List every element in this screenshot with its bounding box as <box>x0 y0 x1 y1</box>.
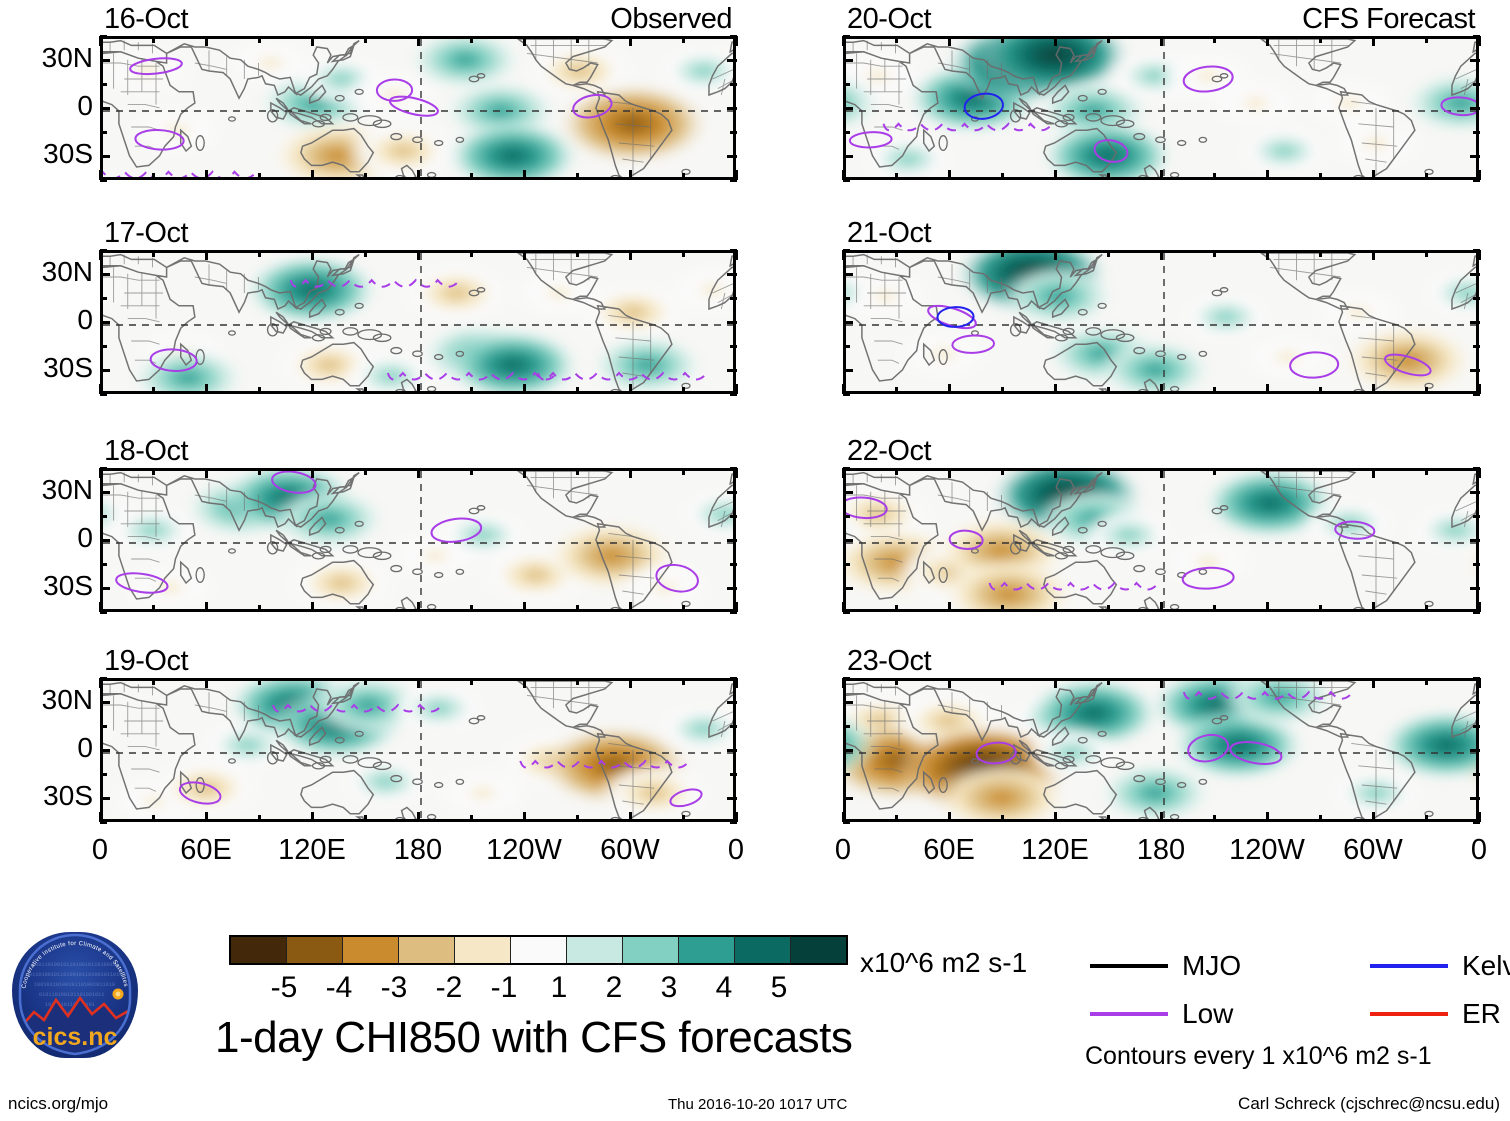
x-tick <box>629 678 632 688</box>
x-tick-minor <box>1107 678 1110 685</box>
x-tick <box>1054 468 1057 478</box>
island-outline <box>229 549 236 553</box>
x-tick <box>1160 36 1163 46</box>
x-tick-minor <box>895 815 898 822</box>
y-tick-minor <box>843 563 850 566</box>
x-tick <box>205 468 208 478</box>
x-tick <box>735 812 738 822</box>
y-axis-label: 0 <box>5 304 93 336</box>
x-tick-minor <box>682 173 685 180</box>
legend-swatch-mjo <box>1090 964 1168 968</box>
legend-swatch-er <box>1370 1012 1448 1016</box>
y-tick <box>843 587 853 590</box>
x-tick-minor <box>576 387 579 394</box>
y-tick <box>1470 797 1480 800</box>
y-tick-minor <box>100 83 107 86</box>
x-tick-minor <box>895 605 898 612</box>
x-tick <box>99 468 102 478</box>
map-panel-20-oct <box>843 36 1479 180</box>
x-axis-label: 120W <box>474 834 574 867</box>
x-tick <box>417 602 420 612</box>
island-outline <box>1354 175 1363 180</box>
island-outline <box>229 331 236 335</box>
footer-site-link[interactable]: ncics.org/mjo <box>8 1094 108 1114</box>
y-tick-minor <box>730 297 737 300</box>
x-tick-minor <box>152 387 155 394</box>
x-tick <box>948 468 951 478</box>
x-tick <box>1478 170 1481 180</box>
x-tick <box>735 602 738 612</box>
x-tick-minor <box>895 678 898 685</box>
x-tick <box>205 36 208 46</box>
y-tick-minor <box>843 725 850 728</box>
x-tick-minor <box>682 468 685 475</box>
x-tick <box>523 384 526 394</box>
y-tick <box>843 273 853 276</box>
x-tick <box>311 36 314 46</box>
island-outline <box>373 334 390 341</box>
y-tick <box>727 321 737 324</box>
y-tick-minor <box>1473 773 1480 776</box>
colorbar-cell <box>399 937 455 963</box>
x-tick-minor <box>364 387 367 394</box>
x-tick-minor <box>364 250 367 257</box>
x-tick <box>99 812 102 822</box>
x-axis-label: 180 <box>368 834 468 867</box>
x-tick <box>1266 812 1269 822</box>
svg-text:1001101001011010010110100101: 1001101001011010010110100101 <box>32 962 119 968</box>
panel-date-label: 19-Oct <box>104 645 188 678</box>
x-tick <box>417 250 420 260</box>
x-tick <box>205 250 208 260</box>
y-tick-minor <box>100 563 107 566</box>
anomaly-blob <box>733 44 736 99</box>
x-tick-minor <box>364 605 367 612</box>
map-panel-22-oct <box>843 468 1479 612</box>
y-tick <box>1470 321 1480 324</box>
y-axis-label: 30N <box>5 474 93 506</box>
y-tick <box>1470 587 1480 590</box>
x-tick-minor <box>1319 36 1322 43</box>
island-outline <box>611 817 620 822</box>
legend-label-mjo: MJO <box>1182 950 1241 982</box>
contour-low <box>103 172 257 179</box>
y-tick-minor <box>730 131 737 134</box>
x-tick <box>1266 468 1269 478</box>
x-tick-minor <box>470 605 473 612</box>
colorbar <box>229 935 848 965</box>
y-tick-minor <box>843 515 850 518</box>
x-tick <box>629 36 632 46</box>
x-tick <box>523 36 526 46</box>
y-tick-minor <box>1473 345 1480 348</box>
x-tick <box>99 602 102 612</box>
x-tick-minor <box>1001 468 1004 475</box>
x-tick <box>1266 170 1269 180</box>
y-tick <box>727 797 737 800</box>
x-axis-label: 0 <box>1429 834 1510 867</box>
panel-date-label: 23-Oct <box>847 645 931 678</box>
island-outline <box>343 328 358 335</box>
x-tick-minor <box>682 36 685 43</box>
x-tick-minor <box>1319 815 1322 822</box>
y-tick <box>727 749 737 752</box>
y-tick <box>727 59 737 62</box>
y-tick <box>727 369 737 372</box>
x-axis-label: 0 <box>50 834 150 867</box>
colorbar-cell <box>623 937 679 963</box>
x-tick-minor <box>1001 36 1004 43</box>
y-tick <box>843 701 853 704</box>
column-heading-observed: Observed <box>610 3 732 36</box>
x-tick-minor <box>895 250 898 257</box>
x-tick-minor <box>576 250 579 257</box>
x-tick <box>1266 602 1269 612</box>
y-tick <box>843 491 853 494</box>
x-tick <box>842 170 845 180</box>
x-tick-minor <box>152 678 155 685</box>
x-tick <box>1266 250 1269 260</box>
x-tick-minor <box>895 468 898 475</box>
y-tick <box>100 155 110 158</box>
x-tick-minor <box>470 250 473 257</box>
x-tick-minor <box>258 678 261 685</box>
y-axis-label: 0 <box>5 522 93 554</box>
map-panel-19-oct <box>100 678 736 822</box>
y-tick-minor <box>730 563 737 566</box>
anomaly-blob <box>396 260 516 325</box>
x-tick-minor <box>364 678 367 685</box>
x-tick <box>842 384 845 394</box>
island-outline <box>1354 607 1363 612</box>
island-outline <box>428 815 436 820</box>
x-tick-minor <box>682 815 685 822</box>
y-axis-label: 30N <box>5 256 93 288</box>
x-tick <box>1478 468 1481 478</box>
y-tick <box>727 587 737 590</box>
x-tick-minor <box>1319 387 1322 394</box>
x-tick-minor <box>1107 387 1110 394</box>
y-tick <box>100 107 110 110</box>
island-outline <box>428 605 436 610</box>
x-tick <box>1266 36 1269 46</box>
x-tick <box>1160 170 1163 180</box>
x-tick-minor <box>1319 468 1322 475</box>
y-tick-minor <box>100 725 107 728</box>
x-tick <box>1160 602 1163 612</box>
x-tick <box>1478 812 1481 822</box>
map-panel-18-oct <box>100 468 736 612</box>
x-tick <box>842 468 845 478</box>
y-tick <box>100 749 110 752</box>
x-tick <box>1266 384 1269 394</box>
x-tick-minor <box>258 173 261 180</box>
x-tick <box>1054 36 1057 46</box>
contour-interval-note: Contours every 1 x10^6 m2 s-1 <box>1085 1042 1432 1071</box>
x-tick <box>1372 384 1375 394</box>
x-tick <box>311 678 314 688</box>
y-tick <box>100 797 110 800</box>
x-tick-minor <box>1213 815 1216 822</box>
column-heading-cfs-forecast: CFS Forecast <box>1302 3 1475 36</box>
x-tick-minor <box>258 387 261 394</box>
x-tick <box>311 384 314 394</box>
x-tick <box>523 812 526 822</box>
x-axis-label: 180 <box>1111 834 1211 867</box>
x-tick <box>1372 36 1375 46</box>
x-tick-minor <box>1425 815 1428 822</box>
x-tick-minor <box>470 36 473 43</box>
footer-timestamp: Thu 2016-10-20 1017 UTC <box>668 1096 847 1113</box>
panel-date-label: 22-Oct <box>847 435 931 468</box>
map-panel-17-oct <box>100 250 736 394</box>
x-tick-minor <box>152 468 155 475</box>
x-tick-minor <box>258 605 261 612</box>
y-tick-minor <box>730 515 737 518</box>
y-tick <box>100 587 110 590</box>
x-tick <box>1160 678 1163 688</box>
x-tick-minor <box>152 605 155 612</box>
island-outline <box>395 817 404 822</box>
island-outline <box>1199 137 1206 142</box>
legend-label-low: Low <box>1182 998 1233 1030</box>
x-tick <box>523 468 526 478</box>
y-tick <box>1470 539 1480 542</box>
x-tick-minor <box>258 468 261 475</box>
x-tick <box>311 812 314 822</box>
panel-date-label: 21-Oct <box>847 217 931 250</box>
map-panel-16-oct <box>100 36 736 180</box>
x-tick <box>1160 384 1163 394</box>
island-outline <box>1354 389 1363 394</box>
panel-date-label: 18-Oct <box>104 435 188 468</box>
x-tick-minor <box>576 173 579 180</box>
x-tick <box>1372 678 1375 688</box>
x-axis-label: 60E <box>899 834 999 867</box>
x-tick <box>1054 170 1057 180</box>
x-tick-minor <box>1213 605 1216 612</box>
panel-date-label: 16-Oct <box>104 3 188 36</box>
y-tick-minor <box>100 131 107 134</box>
x-tick <box>205 384 208 394</box>
legend-label-kelvin-x2: Kelvin x2 <box>1462 950 1510 982</box>
x-tick-minor <box>576 468 579 475</box>
x-axis-label: 120E <box>262 834 362 867</box>
x-tick <box>311 468 314 478</box>
x-tick-minor <box>364 815 367 822</box>
x-tick-minor <box>1425 468 1428 475</box>
island-outline <box>395 607 404 612</box>
x-tick-minor <box>1425 678 1428 685</box>
y-tick <box>843 539 853 542</box>
colorbar-tick-label: 5 <box>739 971 819 1005</box>
anomaly-blob <box>103 262 127 317</box>
x-tick <box>735 384 738 394</box>
svg-text:cics.nc: cics.nc <box>33 1023 118 1051</box>
x-tick-minor <box>1319 173 1322 180</box>
island-outline <box>1178 141 1186 146</box>
x-tick <box>735 678 738 688</box>
footer-author: Carl Schreck (cjschrec@ncsu.edu) <box>1238 1094 1500 1114</box>
x-tick <box>948 602 951 612</box>
x-tick <box>629 812 632 822</box>
island-outline <box>1171 173 1179 178</box>
island-outline <box>1134 566 1145 572</box>
y-tick <box>843 321 853 324</box>
x-tick-minor <box>682 605 685 612</box>
anomaly-blob <box>1234 124 1334 179</box>
x-tick <box>1266 678 1269 688</box>
y-tick <box>1470 107 1480 110</box>
x-tick <box>523 602 526 612</box>
x-tick <box>735 250 738 260</box>
y-tick <box>727 155 737 158</box>
y-tick <box>100 491 110 494</box>
x-tick-minor <box>1001 678 1004 685</box>
y-tick-minor <box>1473 563 1480 566</box>
y-tick-minor <box>100 345 107 348</box>
x-tick <box>948 384 951 394</box>
x-tick <box>417 812 420 822</box>
y-tick <box>1470 59 1480 62</box>
panel-date-label: 17-Oct <box>104 217 188 250</box>
y-tick <box>1470 749 1480 752</box>
x-tick <box>842 36 845 46</box>
x-tick <box>1478 384 1481 394</box>
x-tick <box>99 384 102 394</box>
x-tick-minor <box>1319 678 1322 685</box>
page-title: 1-day CHI850 with CFS forecasts <box>215 1013 852 1063</box>
x-tick-minor <box>1107 173 1110 180</box>
x-tick-minor <box>1213 468 1216 475</box>
y-tick-minor <box>730 83 737 86</box>
x-tick <box>948 812 951 822</box>
y-tick <box>100 369 110 372</box>
x-tick <box>1478 602 1481 612</box>
x-tick <box>417 170 420 180</box>
x-tick-minor <box>1001 173 1004 180</box>
y-axis-label: 0 <box>5 732 93 764</box>
x-tick <box>842 250 845 260</box>
colorbar-cell <box>287 937 343 963</box>
x-tick <box>311 250 314 260</box>
y-tick-minor <box>843 773 850 776</box>
x-tick <box>1372 812 1375 822</box>
x-tick <box>1054 250 1057 260</box>
colorbar-cell <box>679 937 735 963</box>
x-tick <box>523 170 526 180</box>
x-tick <box>1054 384 1057 394</box>
x-tick <box>948 250 951 260</box>
x-tick-minor <box>895 387 898 394</box>
y-tick-minor <box>843 345 850 348</box>
y-tick-minor <box>1473 83 1480 86</box>
colorbar-cell <box>735 937 791 963</box>
x-tick-minor <box>576 605 579 612</box>
x-tick-minor <box>470 815 473 822</box>
y-axis-label: 30S <box>5 352 93 384</box>
x-tick-minor <box>895 173 898 180</box>
colorbar-cell <box>791 937 846 963</box>
x-tick <box>1478 250 1481 260</box>
island-outline <box>229 117 236 121</box>
x-tick <box>99 170 102 180</box>
x-tick-minor <box>1319 250 1322 257</box>
y-tick-minor <box>1473 725 1480 728</box>
cics-nc-logo: 1001101001011010010110100101 01101001011… <box>12 932 138 1058</box>
x-tick <box>1054 678 1057 688</box>
x-tick <box>311 170 314 180</box>
y-tick <box>727 539 737 542</box>
x-tick <box>205 170 208 180</box>
y-tick-minor <box>843 131 850 134</box>
x-tick-minor <box>1107 605 1110 612</box>
x-tick-minor <box>470 173 473 180</box>
colorbar-units-label: x10^6 m2 s-1 <box>860 947 1027 979</box>
x-tick-minor <box>258 250 261 257</box>
y-tick <box>843 797 853 800</box>
x-tick <box>735 36 738 46</box>
colorbar-cell <box>567 937 623 963</box>
x-tick-minor <box>1213 173 1216 180</box>
y-tick <box>843 749 853 752</box>
y-tick-minor <box>100 297 107 300</box>
x-tick <box>629 170 632 180</box>
y-tick-minor <box>843 297 850 300</box>
x-tick-minor <box>576 678 579 685</box>
x-tick <box>1160 468 1163 478</box>
x-tick-minor <box>1213 387 1216 394</box>
x-tick <box>417 468 420 478</box>
y-tick-minor <box>1473 515 1480 518</box>
x-tick-minor <box>1425 605 1428 612</box>
y-tick-minor <box>730 773 737 776</box>
x-tick <box>99 36 102 46</box>
x-tick <box>842 678 845 688</box>
x-tick <box>1054 602 1057 612</box>
svg-text:10010110100101101001011010: 10010110100101101001011010 <box>34 982 115 988</box>
x-tick-minor <box>1213 36 1216 43</box>
y-tick-minor <box>1473 131 1480 134</box>
x-tick <box>629 384 632 394</box>
y-tick <box>100 321 110 324</box>
island-outline <box>1171 605 1179 610</box>
island-outline <box>611 607 620 612</box>
island-outline <box>611 175 620 180</box>
y-axis-label: 30N <box>5 684 93 716</box>
x-tick-minor <box>1001 250 1004 257</box>
y-tick-minor <box>1473 297 1480 300</box>
x-tick <box>417 384 420 394</box>
x-tick <box>523 678 526 688</box>
x-tick <box>629 602 632 612</box>
x-tick-minor <box>470 468 473 475</box>
y-tick <box>1470 369 1480 372</box>
x-axis-label: 120W <box>1217 834 1317 867</box>
x-tick-minor <box>152 250 155 257</box>
x-tick <box>735 468 738 478</box>
y-tick-minor <box>730 725 737 728</box>
y-axis-label: 30N <box>5 42 93 74</box>
x-tick <box>1372 170 1375 180</box>
x-axis-label: 60W <box>1323 834 1423 867</box>
x-tick-minor <box>364 173 367 180</box>
y-tick <box>727 107 737 110</box>
x-tick <box>1054 812 1057 822</box>
x-tick-minor <box>895 36 898 43</box>
x-tick-minor <box>682 678 685 685</box>
x-tick-minor <box>682 387 685 394</box>
